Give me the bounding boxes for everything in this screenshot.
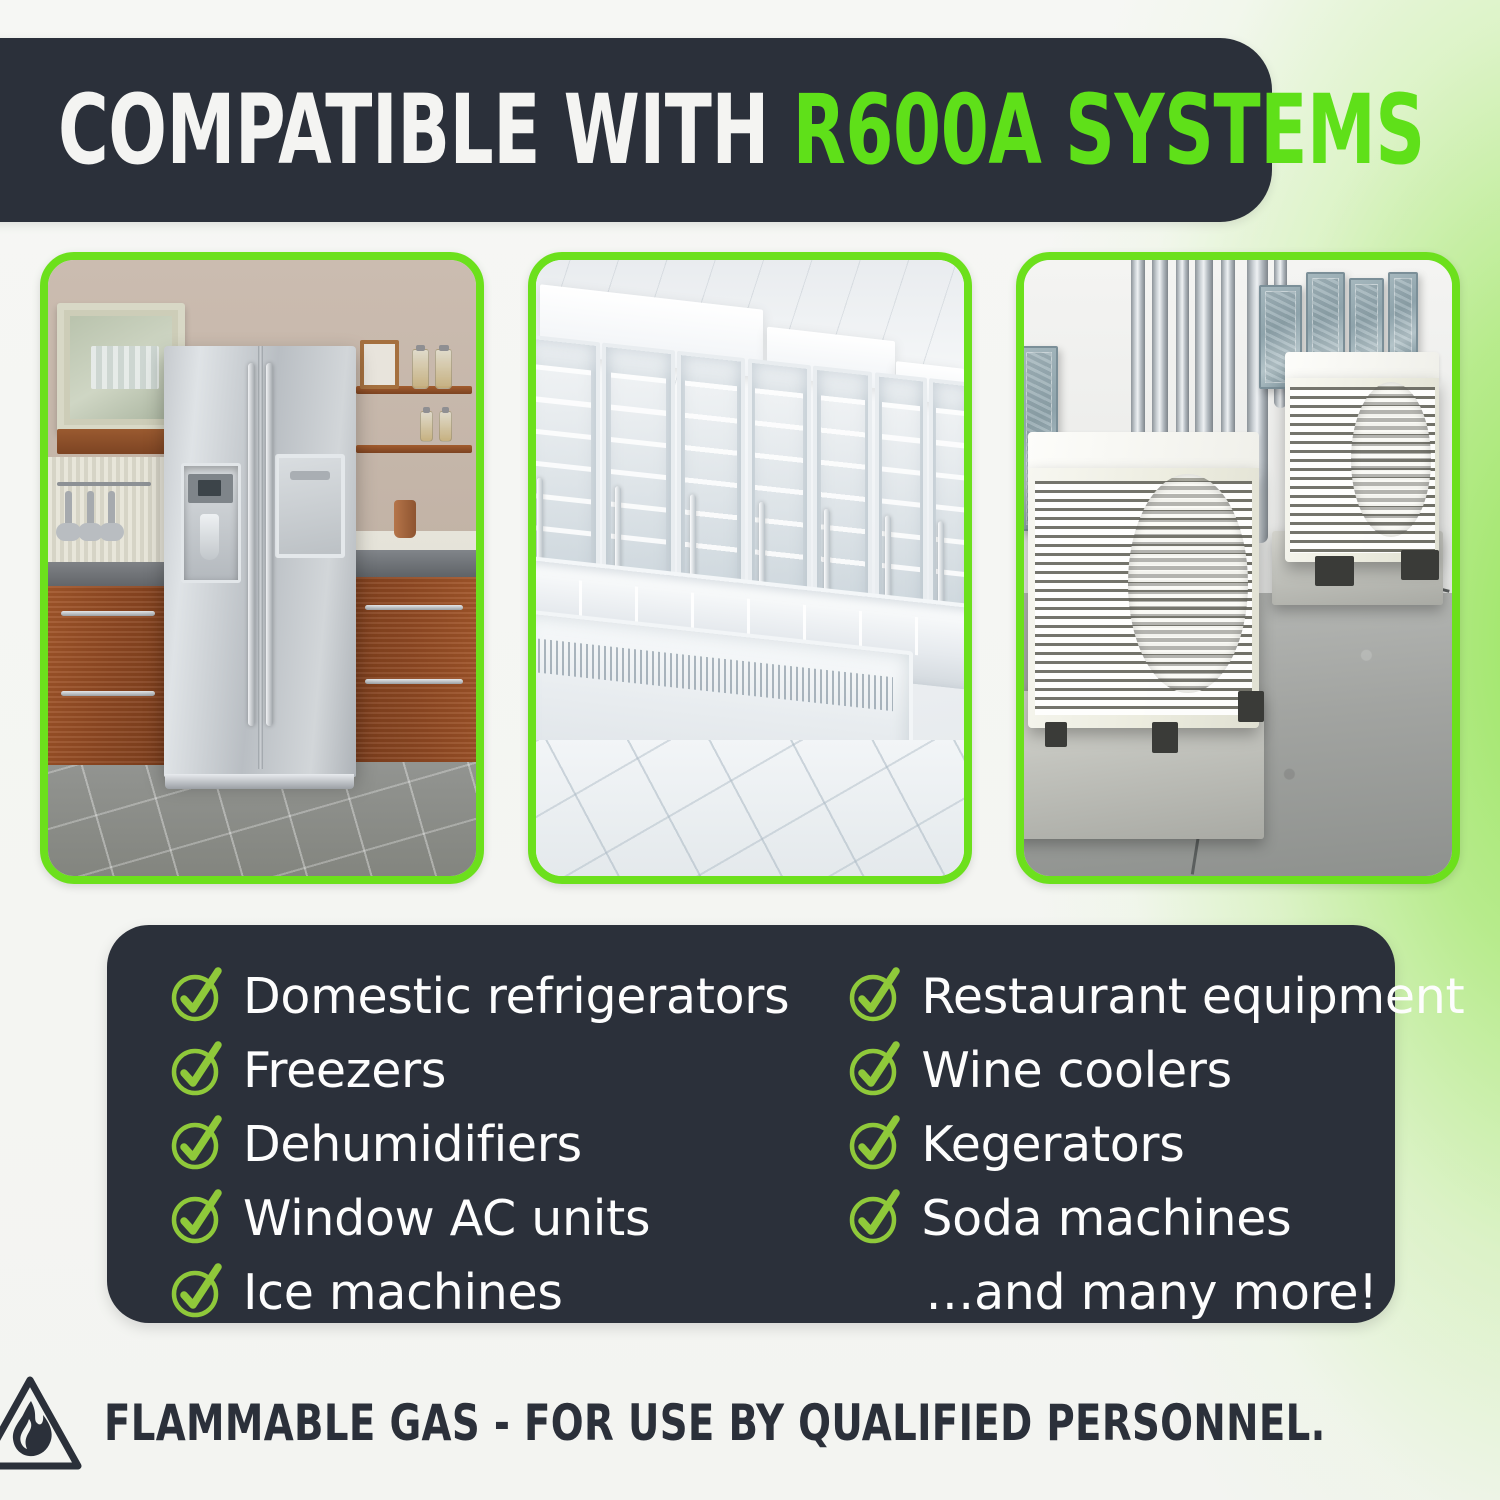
photo-gallery: [40, 252, 1460, 884]
supermarket-freezers-image: [536, 260, 964, 876]
check-circle-icon: [847, 968, 903, 1024]
list-item-label: Ice machines: [243, 1268, 563, 1317]
list-item-label: Wine coolers: [921, 1046, 1232, 1095]
photo-card-domestic-kitchen-refrigerator: [40, 252, 484, 884]
ac-unit-rear: [1285, 352, 1439, 561]
check-circle-icon: [169, 1042, 225, 1098]
list-item: Dehumidifiers: [169, 1107, 789, 1181]
flammable-gas-triangle-icon: [0, 1373, 84, 1473]
check-circle-icon: [847, 1042, 903, 1098]
check-circle-icon: [169, 1190, 225, 1246]
list-item-label: Dehumidifiers: [243, 1120, 582, 1169]
feature-list-left-column: Domestic refrigerators Freezers Dehumidi…: [107, 959, 789, 1323]
header-banner: COMPATIBLE WITH R600A SYSTEMS: [0, 38, 1272, 222]
ac-unit-front: [1028, 432, 1259, 728]
page-title: COMPATIBLE WITH R600A SYSTEMS: [58, 82, 1425, 178]
list-item: Soda machines: [847, 1181, 1464, 1255]
list-item: Window AC units: [169, 1181, 789, 1255]
page-title-plain: COMPATIBLE WITH: [58, 74, 793, 186]
list-item: Restaurant equipment: [847, 959, 1464, 1033]
photo-card-supermarket-display-freezers: [528, 252, 972, 884]
list-item-label: Kegerators: [921, 1120, 1184, 1169]
check-circle-icon: [169, 968, 225, 1024]
compatible-equipment-panel: Domestic refrigerators Freezers Dehumidi…: [107, 925, 1395, 1323]
ice-water-dispenser: [181, 463, 241, 584]
list-item-label: Domestic refrigerators: [243, 972, 789, 1021]
refrigerator: [164, 346, 357, 777]
list-item-label: Window AC units: [243, 1194, 650, 1243]
picture-frame: [360, 340, 399, 389]
feature-list-right-column: Restaurant equipment Wine coolers Kegera…: [789, 959, 1464, 1323]
ac-condenser-units-image: [1024, 260, 1452, 876]
page-title-accent: R600A SYSTEMS: [793, 74, 1425, 186]
list-item: Kegerators: [847, 1107, 1464, 1181]
list-item: Ice machines: [169, 1255, 789, 1329]
check-circle-icon: [169, 1264, 225, 1320]
freezer-drawer: [275, 454, 344, 557]
list-item-label: Restaurant equipment: [921, 972, 1464, 1021]
tiled-floor: [536, 740, 964, 876]
check-circle-icon: [169, 1116, 225, 1172]
infographic-page: COMPATIBLE WITH R600A SYSTEMS: [0, 0, 1500, 1500]
kitchen-refrigerator-image: [48, 260, 476, 876]
check-circle-icon: [847, 1190, 903, 1246]
photo-card-outdoor-ac-condenser-units: [1016, 252, 1460, 884]
list-item: Wine coolers: [847, 1033, 1464, 1107]
list-item-label: Freezers: [243, 1046, 446, 1095]
list-item-label: …and many more!: [921, 1268, 1377, 1317]
footer-warning: FLAMMABLE GAS - FOR USE BY QUALIFIED PER…: [0, 1368, 1500, 1478]
list-item-label: Soda machines: [921, 1194, 1291, 1243]
list-item: Domestic refrigerators: [169, 959, 789, 1033]
warning-text: FLAMMABLE GAS - FOR USE BY QUALIFIED PER…: [104, 1394, 1326, 1452]
list-item: Freezers: [169, 1033, 789, 1107]
check-circle-icon: [847, 1116, 903, 1172]
list-item-and-many-more: …and many more!: [847, 1255, 1464, 1329]
